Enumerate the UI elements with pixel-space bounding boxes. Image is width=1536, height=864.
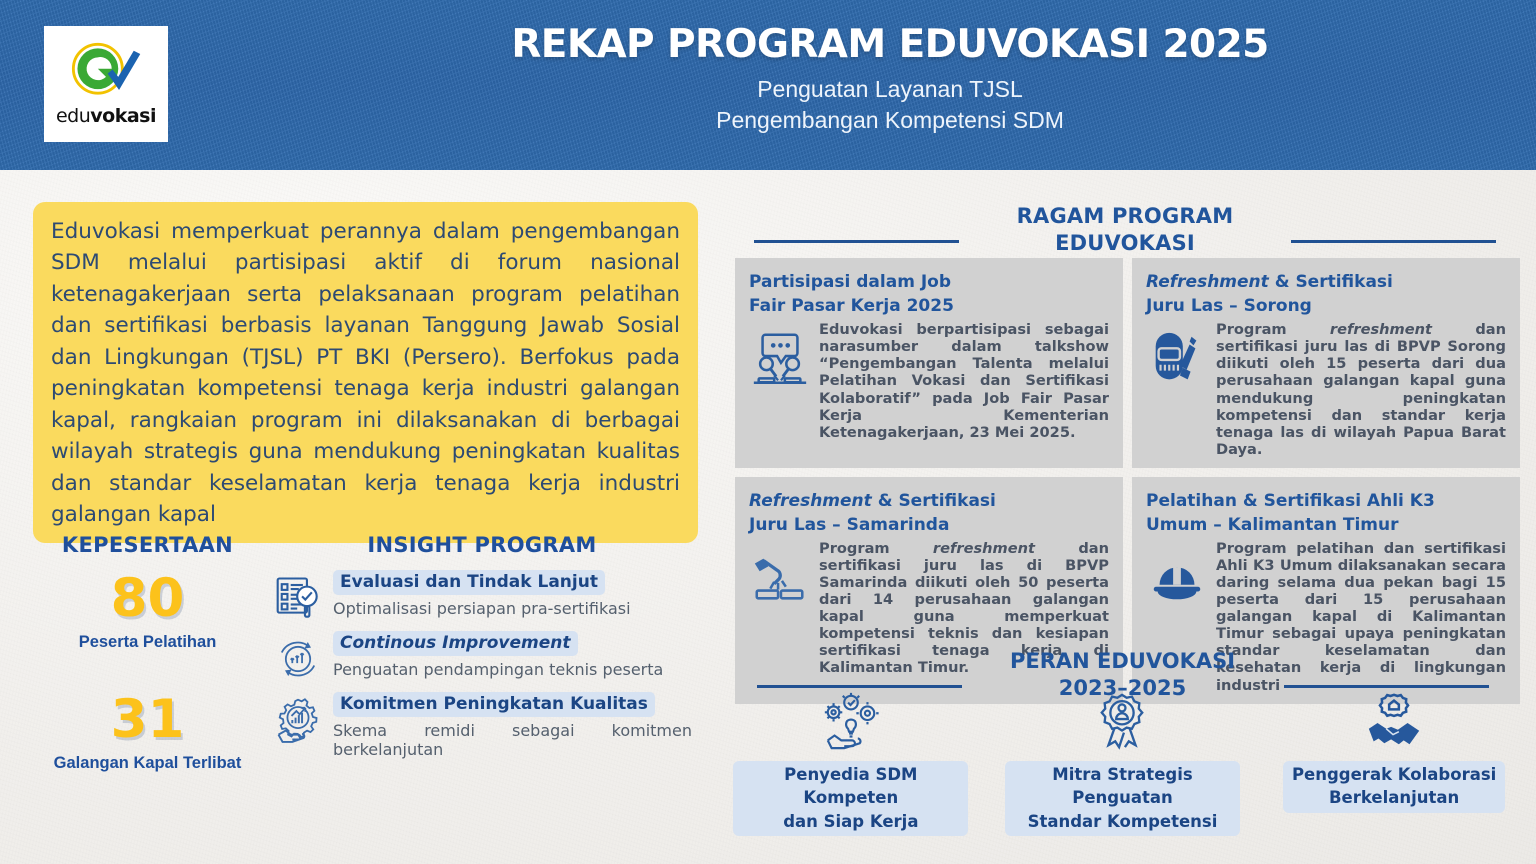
insight-item-body: Continous Improvement Penguatan pendampi… <box>333 631 692 680</box>
logo-mark-icon <box>65 41 147 103</box>
role-item-kolaborasi: Penggerak Kolaborasi Berkelanjutan <box>1258 690 1530 836</box>
insight-item-desc: Optimalisasi persiapan pra-sertifikasi <box>333 600 692 619</box>
subtitle-line-2: Pengembangan Kompetensi SDM <box>300 105 1480 136</box>
insight-item-desc: Penguatan pendampingan teknis peserta <box>333 661 692 680</box>
card-title-line-2: Juru Las – Samarinda <box>749 513 1109 537</box>
continuous-cycle-chart-icon <box>272 633 324 685</box>
award-ribbon-icon <box>1091 690 1153 752</box>
ragam-title-line-1: RAGAM PROGRAM <box>975 203 1275 230</box>
card-title-line-1: Pelatihan & Sertifikasi Ahli K3 <box>1146 489 1506 513</box>
role-label-line-1: Penggerak Kolaborasi <box>1292 763 1496 786</box>
insight-item-title: Evaluasi dan Tindak Lanjut <box>333 570 605 595</box>
divider-right <box>1291 240 1496 243</box>
subtitle-line-1: Penguatan Layanan TJSL <box>300 74 1480 105</box>
insight-program-section: INSIGHT PROGRAM Evaluasi dan Tindak Lanj… <box>272 533 692 767</box>
list-item: Komitmen Peningkatan Kualitas Skema remi… <box>272 692 692 760</box>
card-title-line-2: Umum – Kalimantan Timur <box>1146 513 1506 537</box>
insight-item-body: Evaluasi dan Tindak Lanjut Optimalisasi … <box>333 570 692 619</box>
page-title: REKAP PROGRAM EDUVOKASI 2025 <box>300 22 1480 67</box>
card-title-line-1: Partisipasi dalam Job <box>749 270 1109 294</box>
card-title-line-2: Fair Pasar Kerja 2025 <box>749 294 1109 318</box>
stat-value-shipyards: 31 <box>40 692 255 748</box>
card-title: Pelatihan & Sertifikasi Ahli K3 Umum – K… <box>1146 489 1506 537</box>
card-title: Partisipasi dalam Job Fair Pasar Kerja 2… <box>749 270 1109 318</box>
card-body-text: Program refreshment dan sertifikasi juru… <box>1216 321 1506 458</box>
divider-left <box>754 240 959 243</box>
stat-label-shipyards: Galangan Kapal Terlibat <box>40 754 255 774</box>
eduvokasi-logo: eduvokasi <box>44 26 168 142</box>
program-card-sorong: Refreshment & Sertifikasi Juru Las – Sor… <box>1132 258 1520 468</box>
card-title: Refreshment & Sertifikasi Juru Las – Sam… <box>749 489 1109 537</box>
logo-wordmark: eduvokasi <box>56 105 156 127</box>
divider-right <box>1284 685 1489 688</box>
insight-item-body: Komitmen Peningkatan Kualitas Skema remi… <box>333 692 692 760</box>
card-body-text: Eduvokasi berpartisipasi sebagai narasum… <box>819 321 1109 440</box>
page-subtitle: Penguatan Layanan TJSL Pengembangan Komp… <box>300 74 1480 135</box>
handshake-gear-icon <box>1363 690 1425 752</box>
program-cards-grid: Partisipasi dalam Job Fair Pasar Kerja 2… <box>735 258 1520 704</box>
kepesertaan-section: KEPESERTAAN 80 Peserta Pelatihan 31 Gala… <box>40 533 255 774</box>
card-title-line-2: Juru Las – Sorong <box>1146 294 1506 318</box>
role-label: Penggerak Kolaborasi Berkelanjutan <box>1283 761 1505 813</box>
welding-helmet-torch-icon <box>1146 327 1208 389</box>
list-item: Continous Improvement Penguatan pendampi… <box>272 631 692 685</box>
safety-helmet-icon <box>1146 546 1208 608</box>
insight-list: Evaluasi dan Tindak Lanjut Optimalisasi … <box>272 570 692 760</box>
role-label: Mitra Strategis Penguatan Standar Kompet… <box>1005 761 1240 836</box>
ragam-title: RAGAM PROGRAM EDUVOKASI <box>975 203 1275 258</box>
ragam-program-heading: RAGAM PROGRAM EDUVOKASI <box>720 203 1530 258</box>
roles-row: Penyedia SDM Kompeten dan Siap Kerja Mit… <box>715 690 1530 836</box>
insight-item-title: Komitmen Peningkatan Kualitas <box>333 692 655 717</box>
ragam-title-line-2: EDUVOKASI <box>975 230 1275 257</box>
title-block: REKAP PROGRAM EDUVOKASI 2025 Penguatan L… <box>300 22 1480 135</box>
intro-text: Eduvokasi memperkuat perannya dalam peng… <box>51 216 680 531</box>
role-label-line-2: dan Siap Kerja <box>742 810 959 833</box>
infographic-page: eduvokasi REKAP PROGRAM EDUVOKASI 2025 P… <box>0 0 1536 864</box>
stat-value-participants: 80 <box>40 571 255 627</box>
insight-heading: INSIGHT PROGRAM <box>272 533 692 557</box>
role-label-line-1: Penyedia SDM Kompeten <box>742 763 959 810</box>
insight-item-desc: Skema remidi sebagai komitmen berkelanju… <box>333 722 692 760</box>
idea-hand-gears-icon <box>820 690 882 752</box>
role-item-sdm: Penyedia SDM Kompeten dan Siap Kerja <box>715 690 987 836</box>
card-title-line-1: Refreshment & Sertifikasi <box>1146 270 1506 294</box>
divider-left <box>757 685 962 688</box>
kepesertaan-heading: KEPESERTAAN <box>40 533 255 557</box>
card-title: Refreshment & Sertifikasi Juru Las – Sor… <box>1146 270 1506 318</box>
page-header: eduvokasi REKAP PROGRAM EDUVOKASI 2025 P… <box>0 0 1536 170</box>
peran-title-line-1: PERAN EDUVOKASI <box>978 648 1268 675</box>
card-title-line-1: Refreshment & Sertifikasi <box>749 489 1109 513</box>
role-label-line-1: Mitra Strategis Penguatan <box>1014 763 1231 810</box>
role-label-line-2: Berkelanjutan <box>1292 786 1496 809</box>
welding-torch-spark-icon <box>749 546 811 608</box>
gear-chart-hand-icon <box>272 694 324 746</box>
list-item: Evaluasi dan Tindak Lanjut Optimalisasi … <box>272 570 692 624</box>
checklist-magnifier-icon <box>272 572 324 624</box>
program-card-job-fair: Partisipasi dalam Job Fair Pasar Kerja 2… <box>735 258 1123 468</box>
role-label: Penyedia SDM Kompeten dan Siap Kerja <box>733 761 968 836</box>
stat-label-participants: Peserta Pelatihan <box>40 633 255 653</box>
role-item-mitra: Mitra Strategis Penguatan Standar Kompet… <box>987 690 1259 836</box>
speech-microphones-icon <box>749 327 811 389</box>
role-label-line-2: Standar Kompetensi <box>1014 810 1231 833</box>
intro-highlight-card: Eduvokasi memperkuat perannya dalam peng… <box>33 202 698 543</box>
insight-item-title: Continous Improvement <box>333 631 578 656</box>
